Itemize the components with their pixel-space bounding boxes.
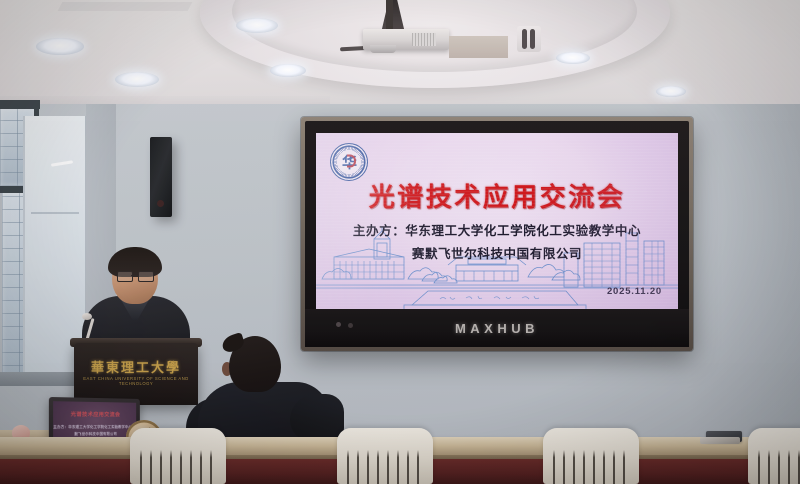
chair-back-slots bbox=[758, 450, 800, 484]
phone-icon[interactable] bbox=[700, 437, 740, 444]
ceiling-light-icon bbox=[656, 86, 686, 97]
ceiling-strip bbox=[58, 2, 193, 11]
chair-back-slots bbox=[140, 450, 216, 484]
laptop-slide-title: 光谱技术应用交流会 bbox=[53, 410, 136, 418]
chair[interactable] bbox=[130, 428, 226, 484]
glasses-icon bbox=[117, 271, 154, 280]
ceiling-access-panel bbox=[449, 36, 508, 58]
podium-university-name-en: EAST CHINA UNIVERSITY OF SCIENCE AND TEC… bbox=[74, 376, 198, 386]
display-brand-label: MAXHUB bbox=[455, 321, 539, 336]
slide-subtitle-organizer: 主办方：华东理工大学化工学院化工实验教学中心 bbox=[316, 220, 678, 239]
chair-back-slots bbox=[347, 450, 423, 484]
projector-lens bbox=[370, 45, 396, 53]
logo-monogram: 华 bbox=[342, 152, 356, 173]
ceiling-light-icon bbox=[36, 38, 84, 55]
ceiling-air-vent bbox=[517, 26, 541, 52]
university-logo-icon: 华 bbox=[330, 143, 368, 181]
right-wall-shading bbox=[690, 104, 800, 484]
glasses-bridge bbox=[131, 275, 140, 276]
display-ir-sensor-icon bbox=[336, 322, 341, 327]
ceiling-light-icon bbox=[270, 64, 306, 77]
podium: 華東理工大學 EAST CHINA UNIVERSITY OF SCIENCE … bbox=[74, 343, 198, 405]
chair-back-slots bbox=[553, 450, 629, 484]
podium-university-name-zh: 華東理工大學 bbox=[74, 357, 198, 376]
conference-room-photo: 华 光谱技术应用交流会 主办方：华东理工大学化工学院化工实验教学中心 赛默飞世尔… bbox=[0, 0, 800, 484]
microphone-icon bbox=[82, 313, 92, 320]
ceiling-light-icon bbox=[236, 18, 278, 33]
ceiling-light-icon bbox=[556, 52, 590, 64]
attendee-arm bbox=[290, 394, 344, 442]
chair[interactable] bbox=[337, 428, 433, 484]
window-frame bbox=[0, 100, 40, 109]
wall-speaker-icon bbox=[150, 137, 172, 217]
projector-vent bbox=[412, 33, 436, 46]
display-brand-bar: MAXHUB bbox=[305, 309, 689, 347]
chair[interactable] bbox=[748, 428, 800, 484]
ceiling-light-icon bbox=[115, 72, 159, 87]
chair[interactable] bbox=[543, 428, 639, 484]
presentation-slide[interactable]: 华 光谱技术应用交流会 主办方：华东理工大学化工学院化工实验教学中心 赛默飞世尔… bbox=[316, 133, 678, 309]
slide-title: 光谱技术应用交流会 bbox=[316, 177, 678, 214]
slide-date: 2025.11.20 bbox=[607, 286, 662, 297]
slide-subtitle-company: 赛默飞世尔科技中国有限公司 bbox=[316, 243, 678, 262]
projector-arm bbox=[386, 0, 393, 30]
